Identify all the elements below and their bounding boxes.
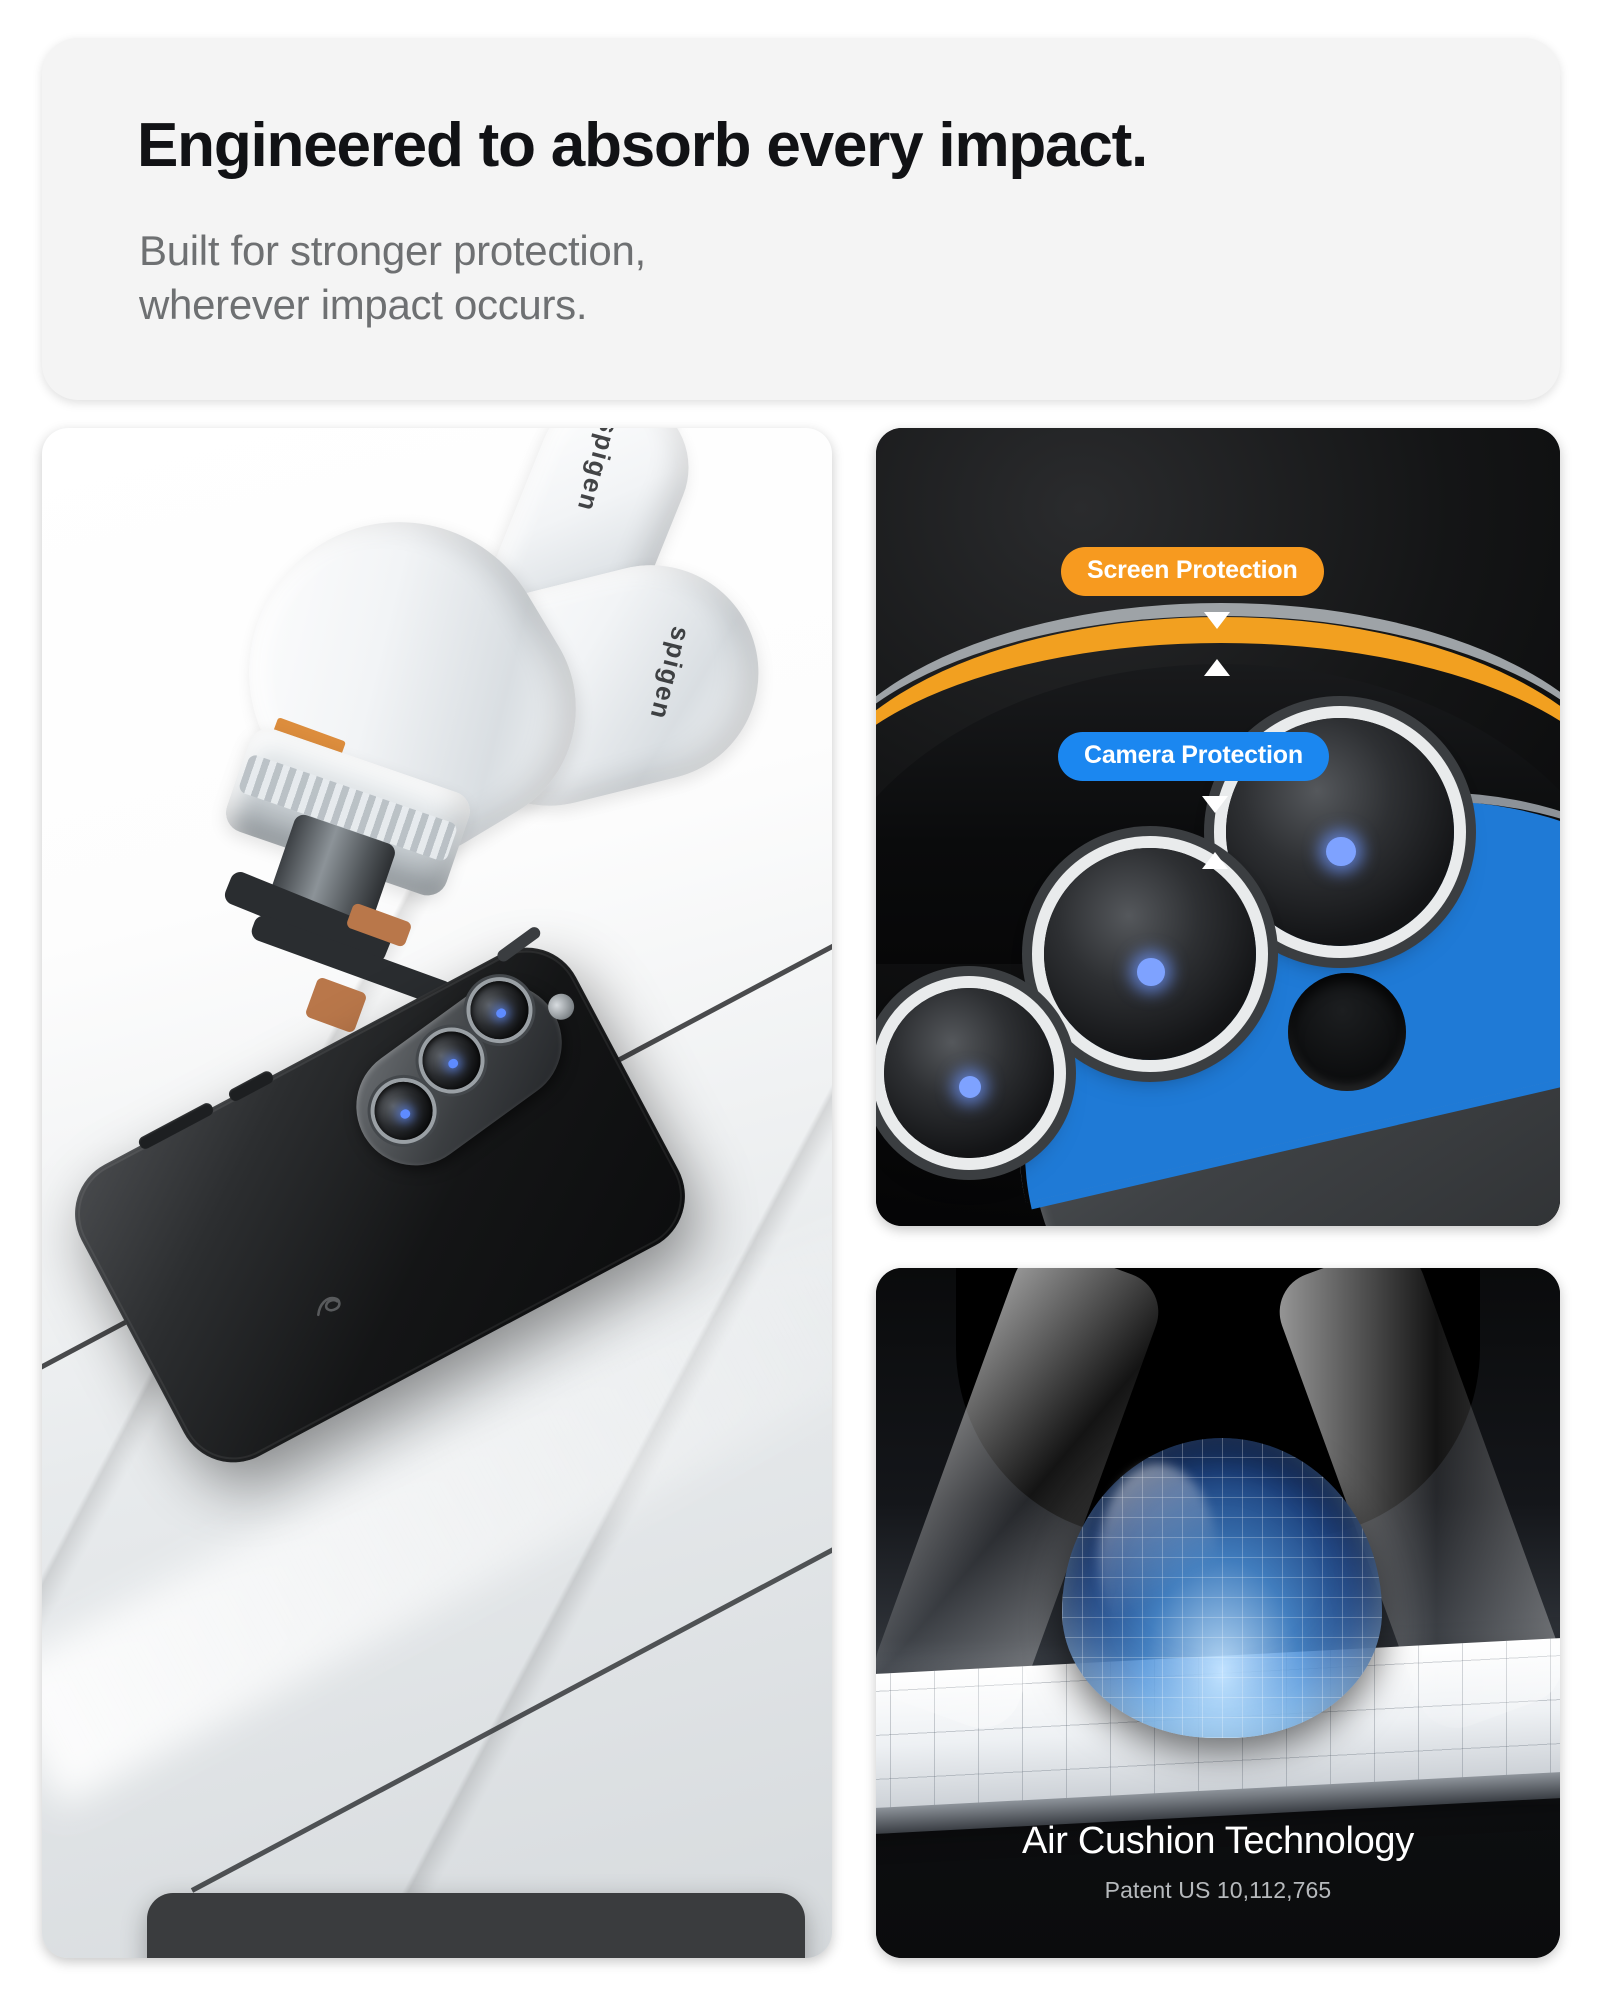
product-feature-page: Engineered to absorb every impact. Built… bbox=[0, 0, 1600, 2000]
patent-number: Patent US 10,112,765 bbox=[876, 1877, 1560, 1904]
bubble-highlight bbox=[1098, 1464, 1218, 1654]
air-cushion-caption: Air Cushion Technology Patent US 10,112,… bbox=[876, 1820, 1560, 1904]
badge-screen-protection: Screen Protection bbox=[1061, 547, 1324, 596]
camera-lens bbox=[884, 988, 1054, 1158]
camera-lens bbox=[1044, 848, 1256, 1060]
air-cushion-title: Air Cushion Technology bbox=[876, 1820, 1560, 1863]
badge-camera-protection: Camera Protection bbox=[1058, 732, 1329, 781]
shock-resistant-caption-card: Shock-resistant case design. Full protec… bbox=[147, 1893, 805, 1958]
panel-screen-camera-protection: Screen Protection Camera Protection bbox=[876, 428, 1560, 1226]
pointer-up-icon bbox=[1204, 659, 1230, 676]
subheadline-line-1: Built for stronger protection, bbox=[139, 224, 1339, 278]
sensor-cutout bbox=[1288, 973, 1406, 1091]
header-card: Engineered to absorb every impact. Built… bbox=[42, 38, 1560, 400]
page-subheadline: Built for stronger protection, wherever … bbox=[139, 224, 1339, 332]
pointer-down-icon bbox=[1204, 612, 1230, 629]
subheadline-line-2: wherever impact occurs. bbox=[139, 278, 1339, 332]
panel-shock-resistant-case: spigen spigen Shock-resistant case desig… bbox=[42, 428, 832, 1958]
pointer-down-icon bbox=[1202, 796, 1228, 813]
panel-air-cushion-technology: Air Cushion Technology Patent US 10,112,… bbox=[876, 1268, 1560, 1958]
pointer-up-icon bbox=[1202, 852, 1228, 869]
page-headline: Engineered to absorb every impact. bbox=[137, 113, 1517, 178]
